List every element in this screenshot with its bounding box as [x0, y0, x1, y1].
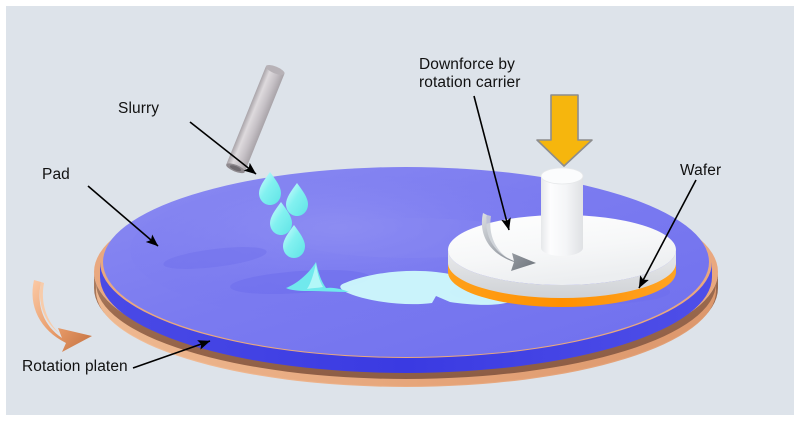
label-slurry: Slurry: [118, 100, 159, 118]
cmp-schematic-figure: Slurry Pad Rotation platen Downforce by …: [0, 0, 800, 421]
label-wafer: Wafer: [680, 162, 721, 180]
rotation-carrier: [541, 168, 583, 256]
label-rotation-platen: Rotation platen: [22, 358, 128, 376]
label-pad: Pad: [42, 166, 70, 184]
label-downforce: Downforce by rotation carrier: [419, 56, 521, 93]
